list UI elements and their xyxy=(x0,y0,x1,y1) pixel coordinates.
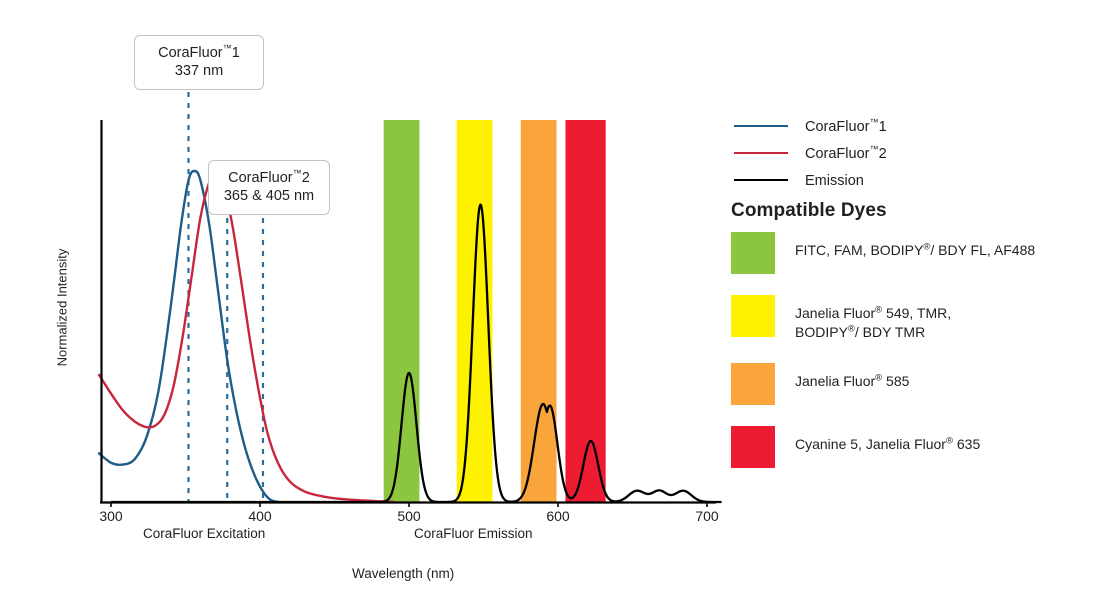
side-panel: CoraFluor™1CoraFluor™2Emission Compatibl… xyxy=(728,0,1110,612)
compatible-dyes-list: FITC, FAM, BODIPY®/ BDY FL, AF488Janelia… xyxy=(731,232,1109,489)
dye-label-line-1: Cyanine 5, Janelia Fluor® 635 xyxy=(795,435,980,454)
tick-label-400: 400 xyxy=(235,508,285,524)
legend-item-1[interactable]: CoraFluor™1 xyxy=(728,112,1068,139)
legend-line-swatch xyxy=(734,125,788,127)
tick-label-700: 700 xyxy=(682,508,732,524)
callout-corafluor1: CoraFluor™1 337 nm xyxy=(134,35,264,90)
dye-label: Cyanine 5, Janelia Fluor® 635 xyxy=(795,426,980,454)
callout1-value: 337 nm xyxy=(147,62,251,81)
orange-band xyxy=(521,120,557,502)
legend-item-label: CoraFluor™2 xyxy=(805,144,887,162)
legend-item-label: CoraFluor™1 xyxy=(805,117,887,135)
excitation-marker-lines xyxy=(188,92,263,502)
dye-label-line-2: BODIPY®/ BDY TMR xyxy=(795,323,951,342)
legend-item-label: Emission xyxy=(805,171,864,189)
excitation-range-label: CoraFluor Excitation xyxy=(143,526,265,541)
series-legend: CoraFluor™1CoraFluor™2Emission xyxy=(728,112,1068,193)
callout2-suffix: 2 xyxy=(302,170,310,186)
red-band xyxy=(565,120,605,502)
legend-line-swatch xyxy=(734,179,788,181)
legend-line-swatch xyxy=(734,152,788,154)
y-axis-title: Normalized Intensity xyxy=(55,228,70,388)
dye-color-swatch xyxy=(731,363,775,405)
legend-item-3[interactable]: Emission xyxy=(728,166,1068,193)
callout2-base: CoraFluor xyxy=(228,170,292,186)
compatible-dyes-title: Compatible Dyes xyxy=(731,200,887,222)
tick-label-500: 500 xyxy=(384,508,434,524)
dye-color-swatch xyxy=(731,295,775,337)
callout2-tm: ™ xyxy=(293,168,302,178)
chart-plot-area: Normalized Intensity Wavelength (nm) Cor… xyxy=(0,0,740,612)
dye-label: Janelia Fluor® 549, TMR,BODIPY®/ BDY TMR xyxy=(795,295,951,342)
tick-label-300: 300 xyxy=(86,508,136,524)
x-axis-title: Wavelength (nm) xyxy=(352,566,454,581)
dye-color-swatch xyxy=(731,426,775,468)
callout1-base: CoraFluor xyxy=(158,45,222,61)
dye-label-line-1: Janelia Fluor® 585 xyxy=(795,372,909,391)
legend-item-2[interactable]: CoraFluor™2 xyxy=(728,139,1068,166)
dye-color-swatch xyxy=(731,232,775,274)
callout-corafluor2: CoraFluor™2 365 & 405 nm xyxy=(208,160,330,215)
dye-row-2[interactable]: Janelia Fluor® 549, TMR,BODIPY®/ BDY TMR xyxy=(731,295,1109,342)
emission-range-label: CoraFluor Emission xyxy=(414,526,533,541)
dye-label: Janelia Fluor® 585 xyxy=(795,363,909,391)
dye-label: FITC, FAM, BODIPY®/ BDY FL, AF488 xyxy=(795,232,1035,260)
callout1-suffix: 1 xyxy=(232,45,240,61)
dye-label-line-1: FITC, FAM, BODIPY®/ BDY FL, AF488 xyxy=(795,241,1035,260)
dye-row-3[interactable]: Janelia Fluor® 585 xyxy=(731,363,1109,405)
dye-row-1[interactable]: FITC, FAM, BODIPY®/ BDY FL, AF488 xyxy=(731,232,1109,274)
callout2-value: 365 & 405 nm xyxy=(221,187,317,206)
dye-label-line-1: Janelia Fluor® 549, TMR, xyxy=(795,304,951,323)
tick-label-600: 600 xyxy=(533,508,583,524)
dye-row-4[interactable]: Cyanine 5, Janelia Fluor® 635 xyxy=(731,426,1109,468)
callout1-tm: ™ xyxy=(223,43,232,53)
green-band xyxy=(384,120,420,502)
